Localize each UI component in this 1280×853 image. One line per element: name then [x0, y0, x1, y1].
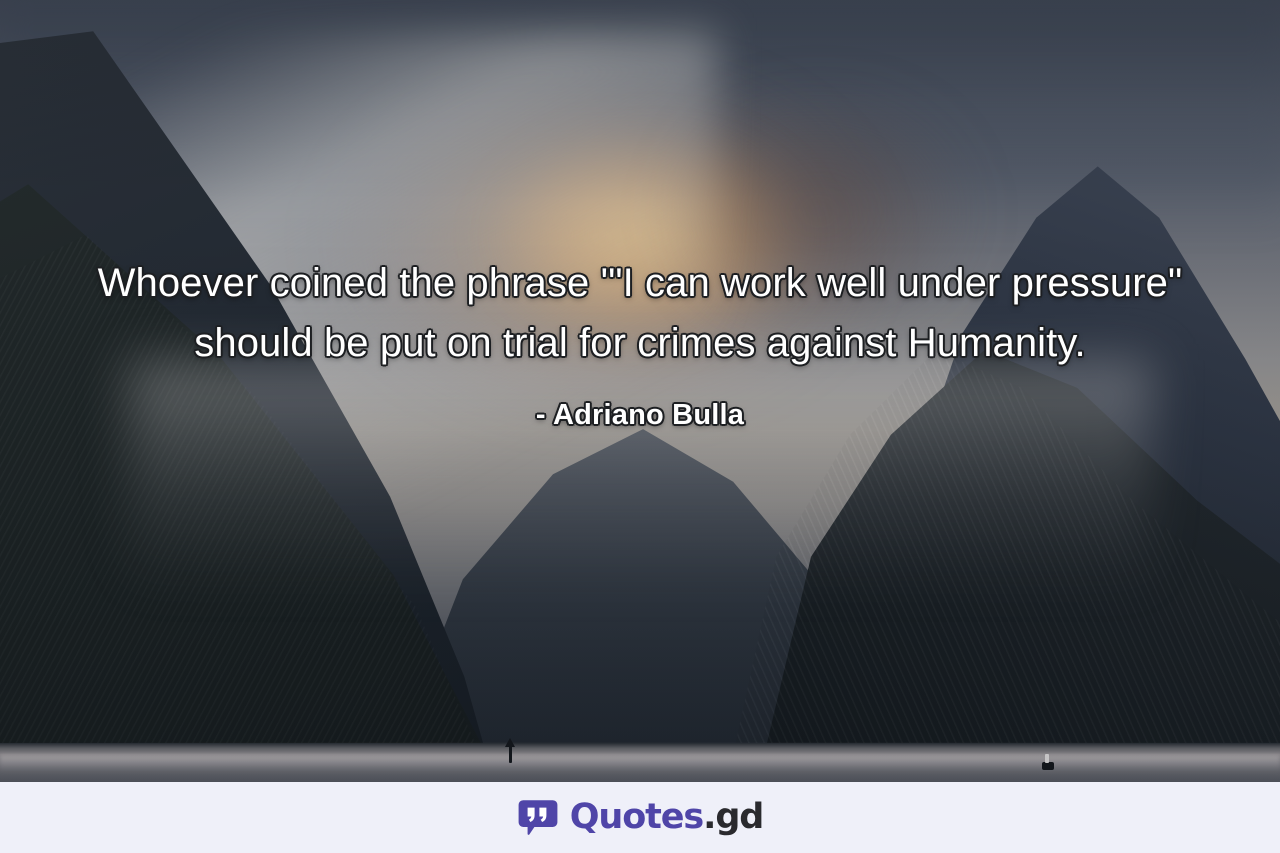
brand-name-primary: Quotes: [570, 797, 703, 837]
brand-wordmark: Quotes.gd: [570, 800, 764, 835]
brand-logo-link[interactable]: Quotes.gd: [517, 797, 764, 839]
quote-block: Whoever coined the phrase '"I can work w…: [0, 0, 1280, 782]
site-footer: Quotes.gd: [0, 782, 1280, 853]
quote-author: - Adriano Bulla: [536, 399, 744, 432]
brand-name-tld: .gd: [703, 797, 763, 837]
quote-text: Whoever coined the phrase '"I can work w…: [95, 254, 1185, 372]
quote-image-page: Whoever coined the phrase '"I can work w…: [0, 0, 1280, 853]
quote-bubble-icon: [517, 797, 559, 839]
